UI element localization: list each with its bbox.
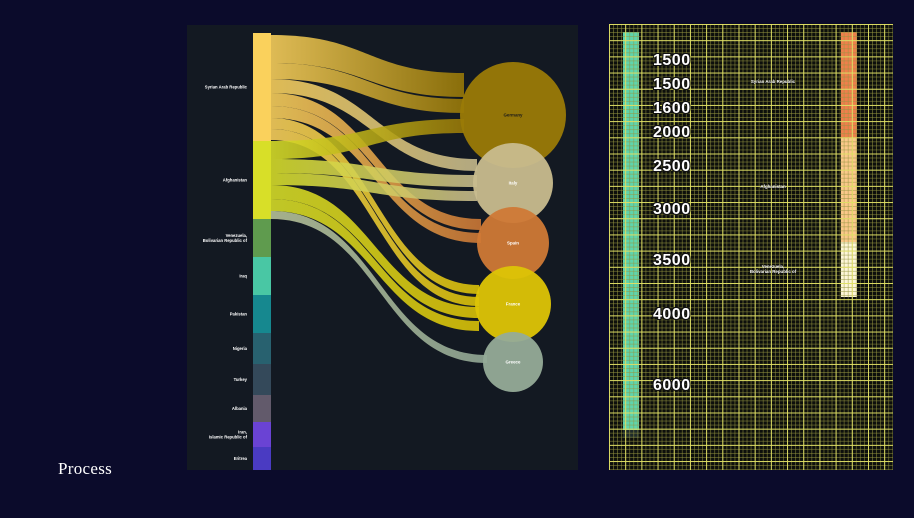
right-bar-segment — [841, 32, 857, 138]
value-label: 6000 — [653, 377, 691, 395]
sankey-svg: Syrian Arab RepublicAfghanistanVenezuela… — [187, 25, 578, 470]
right-bar-label: Venezuela, Bolivarian Republic of — [713, 264, 833, 276]
sankey-source-label: Eritrea — [234, 456, 248, 461]
value-label: 1500 — [653, 52, 691, 70]
sankey-source-node-group — [253, 33, 271, 470]
sankey-source-label: Afghanistan — [223, 178, 248, 183]
sankey-source-label: Islamic Republic of — [209, 435, 248, 440]
page-caption: Process — [58, 459, 112, 479]
left-teal-bar — [623, 32, 639, 438]
value-label: 4000 — [653, 306, 691, 324]
sankey-source-label: Albania — [232, 406, 248, 411]
value-label: 2000 — [653, 124, 691, 142]
sankey-source-label: Pakistan — [230, 312, 248, 317]
sankey-target-label: Germany — [503, 113, 523, 118]
right-bar-label: Syrian Arab Republic — [713, 79, 833, 85]
right-stacked-bar — [841, 32, 857, 297]
sankey-source-node[interactable] — [253, 219, 271, 257]
sankey-source-node[interactable] — [253, 447, 271, 470]
right-bar-segment — [841, 242, 857, 297]
sankey-source-label: Nigeria — [233, 346, 248, 351]
value-label: 1500 — [653, 76, 691, 94]
sankey-source-node[interactable] — [253, 33, 271, 141]
grid-chart-panel: Syrian Arab RepublicAfghanistanVenezuela… — [609, 24, 893, 470]
right-bar-label: Afghanistan — [713, 184, 833, 190]
sankey-diagram-panel: Syrian Arab RepublicAfghanistanVenezuela… — [187, 25, 578, 470]
sankey-source-label: Iraq — [239, 274, 247, 279]
value-label: 3000 — [653, 201, 691, 219]
sankey-target-label: France — [506, 302, 521, 307]
sankey-target-label: Spain — [507, 241, 519, 246]
right-bar-segment — [841, 138, 857, 242]
sankey-source-label: Turkey — [234, 377, 248, 382]
sankey-source-node[interactable] — [253, 257, 271, 295]
sankey-target-label: Greece — [506, 360, 521, 365]
sankey-source-node[interactable] — [253, 364, 271, 395]
value-label: 1600 — [653, 100, 691, 118]
value-label: 3500 — [653, 252, 691, 270]
sankey-source-node[interactable] — [253, 422, 271, 447]
left-bar-segment — [623, 430, 639, 438]
sankey-source-node[interactable] — [253, 395, 271, 422]
sankey-source-node[interactable] — [253, 333, 271, 364]
sankey-link-group — [271, 35, 487, 363]
sankey-source-node[interactable] — [253, 141, 271, 219]
sankey-target-label: Italy — [509, 181, 518, 186]
sankey-source-label: Bolivarian Republic of — [203, 238, 248, 243]
value-label: 2500 — [653, 158, 691, 176]
sankey-source-label: Syrian Arab Republic — [205, 85, 248, 90]
left-bar-segment — [623, 32, 639, 430]
sankey-source-node[interactable] — [253, 295, 271, 333]
